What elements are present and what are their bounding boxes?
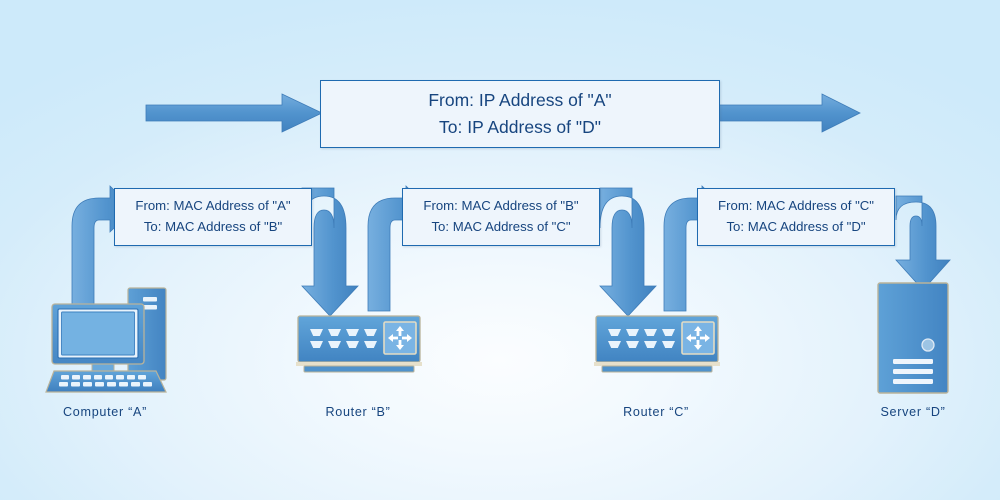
mac-ab-to-line: To: MAC Address of "B" (144, 217, 282, 238)
hop-arrow-into-router-c (600, 188, 656, 316)
caption-computer-a: Computer “A” (0, 405, 210, 419)
hop-arrow-into-server-d (890, 196, 954, 290)
mac-cd-from-line: From: MAC Address of "C" (718, 196, 874, 217)
router-icon-c (594, 316, 720, 378)
mac-cd-to-line: To: MAC Address of "D" (726, 217, 865, 238)
mac-header-b-to-c: From: MAC Address of "B" To: MAC Address… (402, 188, 600, 246)
ip-packet-header: From: IP Address of "A" To: IP Address o… (320, 80, 720, 148)
desktop-computer-icon (44, 276, 180, 396)
ip-flow-arrow-right (718, 94, 860, 132)
ip-flow-arrow-left (146, 94, 322, 132)
mac-bc-from-line: From: MAC Address of "B" (423, 196, 578, 217)
server-icon (876, 283, 950, 395)
caption-server-d: Server “D” (838, 405, 988, 419)
network-diagram-canvas: From: IP Address of "A" To: IP Address o… (0, 0, 1000, 500)
router-icon-b (296, 316, 422, 378)
mac-header-c-to-d: From: MAC Address of "C" To: MAC Address… (697, 188, 895, 246)
ip-from-line: From: IP Address of "A" (428, 87, 611, 114)
caption-router-b: Router “B” (258, 405, 458, 419)
mac-bc-to-line: To: MAC Address of "C" (431, 217, 570, 238)
mac-ab-from-line: From: MAC Address of "A" (135, 196, 290, 217)
ip-to-line: To: IP Address of "D" (439, 114, 601, 141)
mac-header-a-to-b: From: MAC Address of "A" To: MAC Address… (114, 188, 312, 246)
caption-router-c: Router “C” (556, 405, 756, 419)
